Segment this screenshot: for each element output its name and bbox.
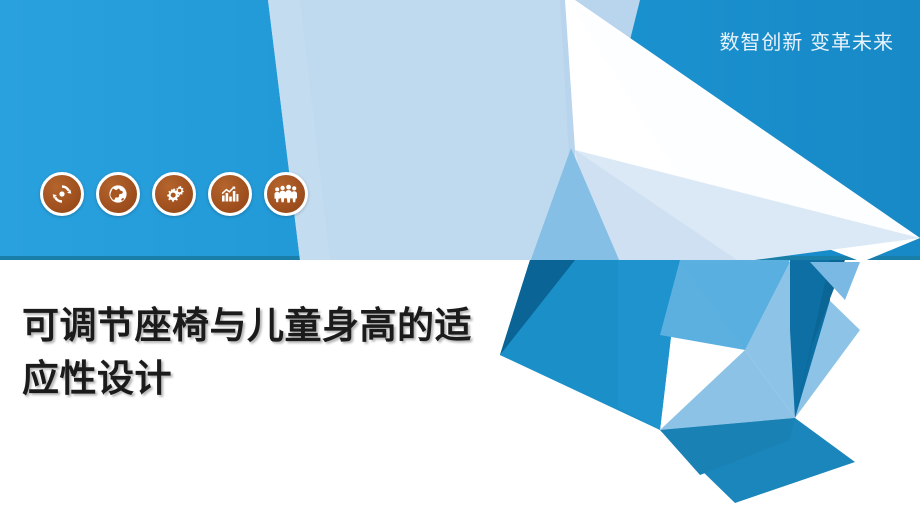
polygon-background bbox=[0, 0, 920, 518]
people-group-icon[interactable] bbox=[264, 172, 308, 216]
recycle-arrows-icon[interactable] bbox=[40, 172, 84, 216]
page-title-line-1: 可调节座椅与儿童身高的适 bbox=[22, 300, 527, 353]
icon-badge-row bbox=[40, 172, 308, 216]
page-title: 可调节座椅与儿童身高的适 应性设计 bbox=[22, 300, 527, 405]
page-title-line-2: 应性设计 bbox=[22, 353, 527, 406]
bar-chart-growth-icon[interactable] bbox=[208, 172, 252, 216]
globe-icon[interactable] bbox=[96, 172, 140, 216]
gears-icon[interactable] bbox=[152, 172, 196, 216]
tagline-text: 数智创新 变革未来 bbox=[719, 26, 894, 55]
slide-canvas: 数智创新 变革未来 bbox=[0, 0, 920, 518]
